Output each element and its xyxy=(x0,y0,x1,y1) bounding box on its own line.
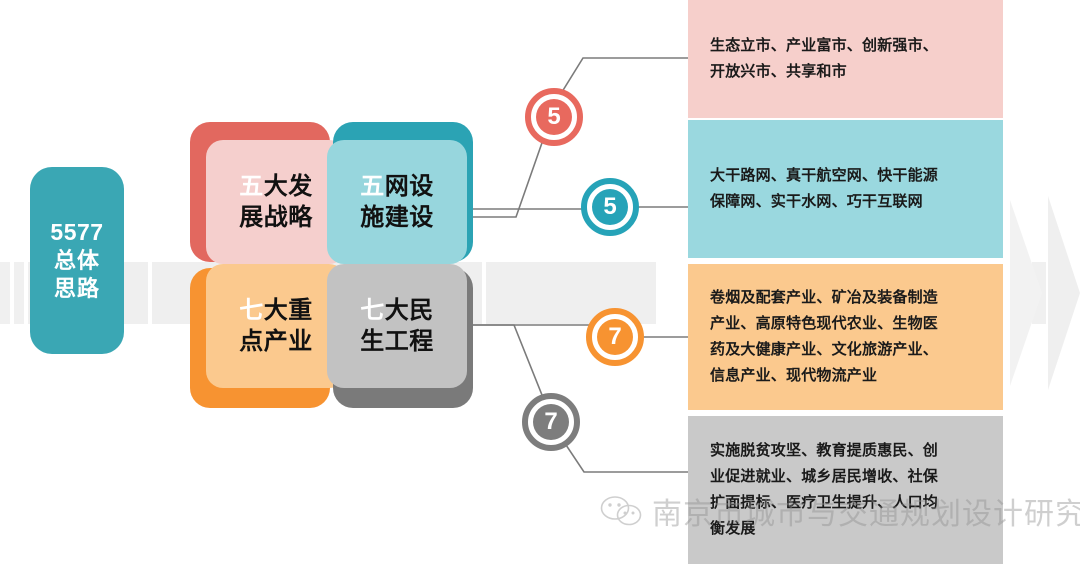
card-label: 七大民 生工程 xyxy=(360,295,434,357)
card-lead-char: 七 xyxy=(360,297,385,324)
card-inner-shape: 七大民 生工程 xyxy=(327,264,467,388)
card-inner-shape: 五网设 施建设 xyxy=(327,140,467,264)
badge-number: 7 xyxy=(544,410,557,434)
badge-number: 5 xyxy=(603,195,616,219)
connector-strategy xyxy=(470,58,688,217)
badge-count-industry[interactable]: 7 xyxy=(586,308,644,366)
card-five-strategies[interactable]: 五大发 展战略 xyxy=(190,122,330,262)
card-line1-rest: 大发 xyxy=(264,173,313,200)
panel-strategy-detail: 生态立市、产业富市、创新强市、 开放兴市、共享和市 xyxy=(688,0,1003,118)
card-seven-welfare-projects[interactable]: 七大民 生工程 xyxy=(333,268,473,408)
card-label: 五网设 施建设 xyxy=(360,171,434,233)
card-line2: 展战略 xyxy=(239,202,313,233)
infographic-canvas: 5577 总体 思路 五大发 展战略 五网设 施建设 七大重 点产业 xyxy=(0,0,1080,564)
panel-network-detail: 大干路网、真干航空网、快干能源 保障网、实干水网、巧干互联网 xyxy=(688,120,1003,258)
card-five-networks[interactable]: 五网设 施建设 xyxy=(333,122,473,262)
panel-line-1: 卷烟及配套产业、矿冶及装备制造 xyxy=(710,285,981,311)
connector-welfare xyxy=(470,325,688,472)
panel-line-1: 生态立市、产业富市、创新强市、 xyxy=(710,33,981,59)
card-label: 七大重 点产业 xyxy=(239,295,313,357)
panel-welfare-detail: 实施脱贫攻坚、教育提质惠民、创 业促进就业、城乡居民增收、社保 扩面提标、医疗卫… xyxy=(688,416,1003,564)
connector-industry xyxy=(473,325,688,337)
panel-industry-detail: 卷烟及配套产业、矿冶及装备制造 产业、高原特色现代农业、生物医 药及大健康产业、… xyxy=(688,264,1003,410)
hub-number: 5577 xyxy=(50,218,103,247)
central-hub[interactable]: 5577 总体 思路 xyxy=(30,167,124,354)
panel-line-4: 信息产业、现代物流产业 xyxy=(710,363,981,389)
card-line2: 施建设 xyxy=(360,202,434,233)
panel-line-3: 扩面提标、医疗卫生提升、人口均 xyxy=(710,490,981,516)
card-lead-char: 七 xyxy=(239,297,264,324)
badge-count-network[interactable]: 5 xyxy=(581,178,639,236)
hub-line2: 思路 xyxy=(54,275,100,303)
card-lead-char: 五 xyxy=(360,173,385,200)
badge-number: 5 xyxy=(547,105,560,129)
panel-line-2: 产业、高原特色现代农业、生物医 xyxy=(710,311,981,337)
card-label: 五大发 展战略 xyxy=(239,171,313,233)
card-line1-rest: 网设 xyxy=(385,173,434,200)
badge-count-strategy[interactable]: 5 xyxy=(525,88,583,146)
card-line2: 生工程 xyxy=(360,326,434,357)
badge-count-welfare[interactable]: 7 xyxy=(522,393,580,451)
card-inner-shape: 七大重 点产业 xyxy=(206,264,346,388)
panel-line-2: 开放兴市、共享和市 xyxy=(710,59,981,85)
panel-line-3: 药及大健康产业、文化旅游产业、 xyxy=(710,337,981,363)
panel-line-1: 实施脱贫攻坚、教育提质惠民、创 xyxy=(710,438,981,464)
card-lead-char: 五 xyxy=(239,173,264,200)
panel-line-4: 衡发展 xyxy=(710,516,981,542)
hub-line1: 总体 xyxy=(54,247,100,275)
card-inner-shape: 五大发 展战略 xyxy=(206,140,346,264)
badge-number: 7 xyxy=(608,325,621,349)
card-line2: 点产业 xyxy=(239,326,313,357)
panel-line-2: 业促进就业、城乡居民增收、社保 xyxy=(710,464,981,490)
panel-line-1: 大干路网、真干航空网、快干能源 xyxy=(710,163,981,189)
card-line1-rest: 大民 xyxy=(385,297,434,324)
panel-line-2: 保障网、实干水网、巧干互联网 xyxy=(710,189,981,215)
card-seven-industries[interactable]: 七大重 点产业 xyxy=(190,268,330,408)
card-line1-rest: 大重 xyxy=(264,297,313,324)
